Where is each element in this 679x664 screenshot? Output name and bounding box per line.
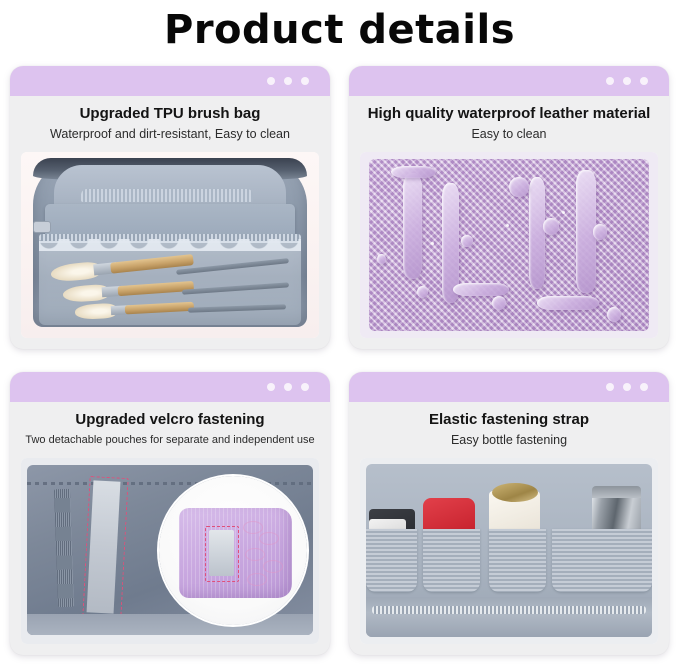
window-dot-icon [267, 77, 275, 85]
brush-bag-photo [21, 152, 319, 338]
card-subtitle: Waterproof and dirt-resistant, Easy to c… [16, 125, 324, 143]
card-subtitle: Easy bottle fastening [355, 431, 663, 449]
card-image [21, 152, 319, 338]
waterproof-leather-photo [360, 152, 658, 338]
card-window-bar [10, 66, 330, 96]
card-image [360, 152, 658, 338]
card-text-block: Upgraded TPU brush bag Waterproof and di… [10, 96, 330, 149]
card-text-block: Upgraded velcro fastening Two detachable… [10, 402, 330, 455]
window-dot-icon [606, 383, 614, 391]
window-dot-icon [284, 77, 292, 85]
feature-card-waterproof-leather[interactable]: High quality waterproof leather material… [349, 66, 669, 349]
window-dot-icon [301, 383, 309, 391]
velcro-fastening-photo [21, 458, 319, 644]
window-dot-icon [267, 383, 275, 391]
window-dot-icon [301, 77, 309, 85]
product-feature-grid: Upgraded TPU brush bag Waterproof and di… [10, 66, 669, 655]
card-image [360, 458, 658, 644]
window-dot-icon [640, 383, 648, 391]
window-dots [606, 383, 648, 391]
card-title: Upgraded velcro fastening [16, 410, 324, 430]
window-dots [606, 77, 648, 85]
window-dot-icon [640, 77, 648, 85]
elastic-strap-photo [360, 458, 658, 644]
feature-card-elastic-strap[interactable]: Elastic fastening strap Easy bottle fast… [349, 372, 669, 655]
card-window-bar [10, 372, 330, 402]
card-window-bar [349, 372, 669, 402]
card-window-bar [349, 66, 669, 96]
card-subtitle: Easy to clean [355, 125, 663, 143]
window-dot-icon [606, 77, 614, 85]
window-dot-icon [623, 77, 631, 85]
window-dots [267, 383, 309, 391]
window-dots [267, 77, 309, 85]
card-subtitle: Two detachable pouches for separate and … [16, 431, 324, 449]
window-dot-icon [284, 383, 292, 391]
card-title: Elastic fastening strap [355, 410, 663, 430]
card-text-block: Elastic fastening strap Easy bottle fast… [349, 402, 669, 455]
card-text-block: High quality waterproof leather material… [349, 96, 669, 149]
product-details-page: Product details Upgraded TPU brush bag W… [0, 0, 679, 664]
window-dot-icon [623, 383, 631, 391]
feature-card-velcro-fastening[interactable]: Upgraded velcro fastening Two detachable… [10, 372, 330, 655]
page-title: Product details [0, 0, 679, 56]
card-title: Upgraded TPU brush bag [16, 104, 324, 124]
card-title: High quality waterproof leather material [355, 104, 663, 124]
feature-card-tpu-brush-bag[interactable]: Upgraded TPU brush bag Waterproof and di… [10, 66, 330, 349]
card-image [21, 458, 319, 644]
